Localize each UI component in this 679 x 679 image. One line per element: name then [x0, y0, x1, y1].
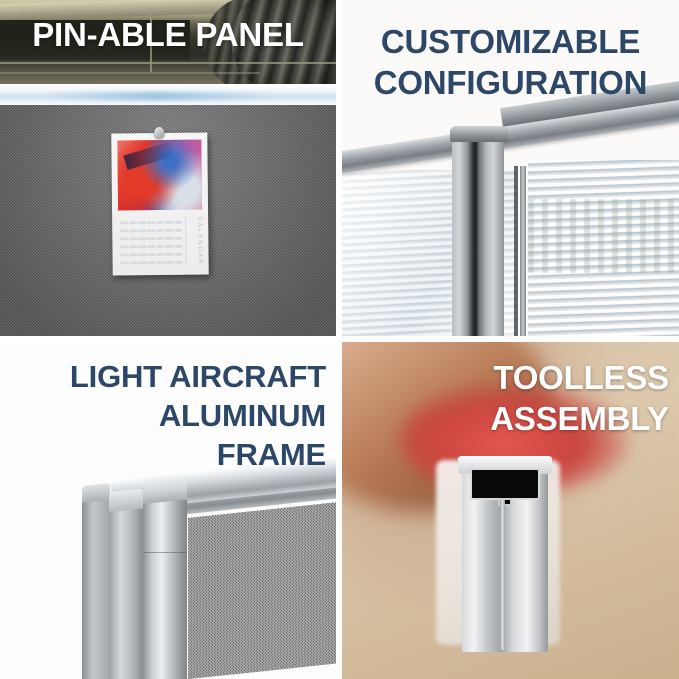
frame-post-back — [82, 500, 110, 679]
headline-toolless-assembly: TOOLLESS ASSEMBLY — [342, 358, 669, 440]
headline-light-aircraft-aluminum-frame: LIGHT AIRCRAFT ALUMINUM FRAME — [0, 358, 326, 474]
wall-calendar: CALENDAR — [111, 133, 208, 276]
partition-corner-post — [452, 132, 504, 336]
conduit-line-2 — [0, 72, 260, 74]
frame-post-middle — [109, 509, 143, 679]
frame-post-back-cap — [82, 483, 110, 503]
grid-divider-horizontal — [0, 336, 679, 342]
channel-slot — [470, 468, 540, 500]
glazing-mullion — [520, 166, 526, 336]
conduit-line — [0, 62, 336, 64]
calendar-artwork — [117, 140, 202, 211]
frame-post-front — [143, 500, 187, 679]
extrusion-fin — [500, 500, 505, 650]
frame-post-middle-cap — [109, 488, 143, 512]
headline-pin-able-panel: PIN-ABLE PANEL — [0, 18, 336, 53]
feature-grid: CALENDAR PIN-ABL — [0, 0, 679, 679]
ceiling-light-band — [0, 84, 336, 106]
calendar-date-grid — [120, 219, 182, 264]
frame-seam — [143, 552, 187, 553]
headline-customizable-configuration: CUSTOMIZABLE CONFIGURATION — [342, 22, 679, 104]
venetian-blinds-right — [528, 160, 679, 336]
calendar-divider — [185, 217, 187, 265]
push-pin-icon — [154, 127, 164, 138]
partition-post-cap — [450, 126, 508, 142]
frame-fabric-infill — [188, 501, 348, 679]
frame-post-front-cap — [143, 473, 187, 504]
glazing-mullion-shadow — [514, 166, 518, 336]
calendar-side-label: CALENDAR — [196, 217, 203, 266]
